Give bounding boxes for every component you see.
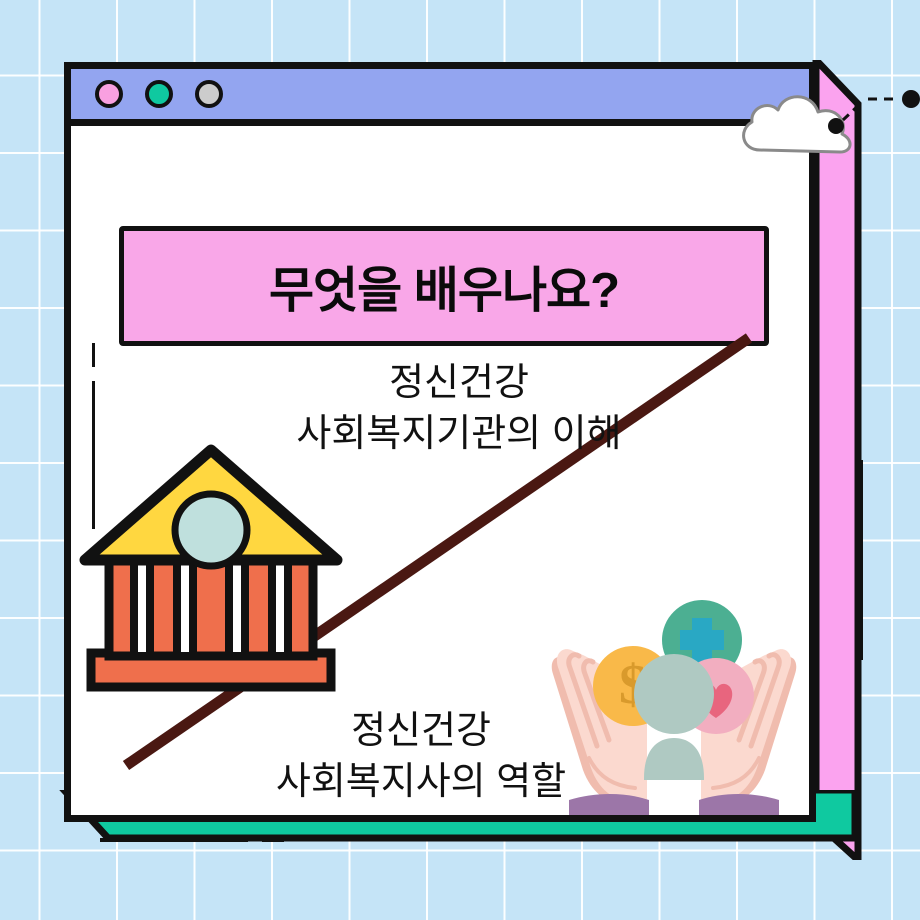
person-silhouette <box>634 654 714 780</box>
base-dash-long <box>100 838 248 842</box>
page-title: 무엇을 배우나요? <box>269 251 619 322</box>
base-dash-short <box>262 838 284 842</box>
window-content: 무엇을 배우나요? 정신건강 사회복지기관의 이해 정신건강 사회복지사의 역할 <box>71 126 809 815</box>
left-cuff-light <box>569 794 649 815</box>
left-tick-short <box>92 343 95 367</box>
poster-canvas: 무엇을 배우나요? 정신건강 사회복지기관의 이해 정신건강 사회복지사의 역할 <box>0 0 920 920</box>
caring-hands-illustration: $ <box>549 598 799 815</box>
close-dot[interactable] <box>95 80 123 108</box>
window-titlebar <box>71 69 809 126</box>
window-right-extrusion <box>810 60 920 860</box>
right-edge-accent <box>855 460 863 660</box>
browser-window: 무엇을 배우나요? 정신건강 사회복지기관의 이해 정신건강 사회복지사의 역할 <box>64 62 816 822</box>
welfare-institution-building <box>79 438 344 698</box>
topic-upper-line1: 정신건강 <box>249 358 669 409</box>
right-cuff-light <box>699 794 779 815</box>
maximize-dot[interactable] <box>195 80 223 108</box>
minimize-dot[interactable] <box>145 80 173 108</box>
headline-banner: 무엇을 배우나요? <box>119 226 769 346</box>
